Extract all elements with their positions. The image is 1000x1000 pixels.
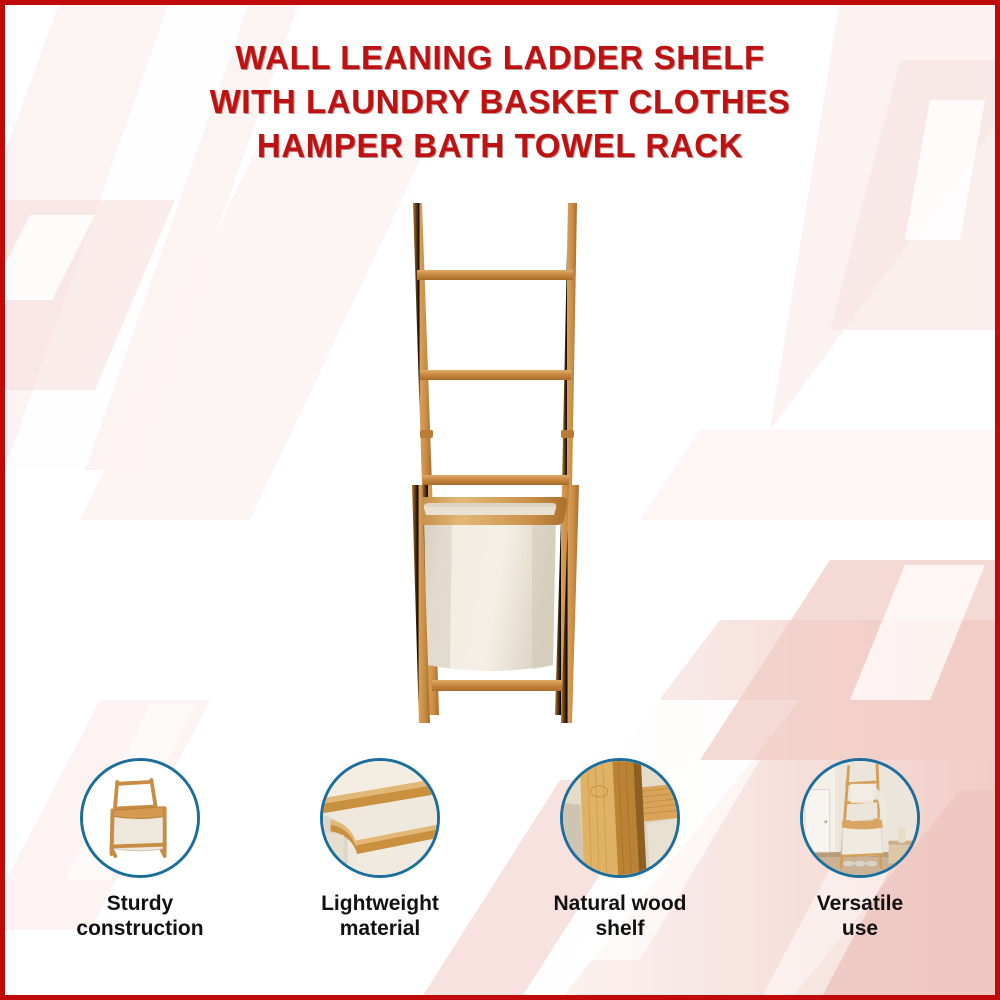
feature-sturdy-construction: Sturdy construction	[20, 758, 260, 973]
feature-thumbnail-versatile-use	[800, 758, 920, 878]
ladder-rung-3	[423, 475, 569, 485]
poster-title: WALL LEANING LADDER SHELF WITH LAUNDRY B…	[0, 36, 1000, 168]
title-line-1: WALL LEANING LADDER SHELF	[0, 36, 1000, 80]
title-line-2: WITH LAUNDRY BASKET CLOTHES	[0, 80, 1000, 124]
feature-thumbnail-natural-wood-shelf	[560, 758, 680, 878]
laundry-hamper-basket	[415, 497, 567, 671]
hero-product-image	[360, 185, 640, 745]
room-scene-photo-icon	[803, 761, 917, 875]
ladder-rung-2	[420, 370, 571, 380]
feature-caption-natural-wood-shelf: Natural wood shelf	[553, 892, 686, 942]
ladder-bottom-brace	[432, 680, 564, 691]
feature-caption-versatile-use: Versatile use	[817, 892, 903, 942]
feature-highlights-row: Sturdy construction Lightweight material	[20, 758, 980, 973]
full-unit-photo-icon	[83, 761, 197, 875]
bamboo-grain-closeup-icon	[563, 761, 677, 875]
ladder-hamper-illustration	[360, 185, 640, 745]
title-line-3: HAMPER BATH TOWEL RACK	[0, 124, 1000, 168]
feature-versatile-use: Versatile use	[740, 758, 980, 973]
feature-natural-wood-shelf: Natural wood shelf	[500, 758, 740, 973]
basket-rim-closeup-icon	[323, 761, 437, 875]
product-poster: WALL LEANING LADDER SHELF WITH LAUNDRY B…	[0, 0, 1000, 1000]
feature-caption-lightweight-material: Lightweight material	[321, 892, 439, 942]
feature-lightweight-material: Lightweight material	[260, 758, 500, 973]
feature-thumbnail-sturdy-construction	[80, 758, 200, 878]
feature-thumbnail-lightweight-material	[320, 758, 440, 878]
ladder-rung-1	[417, 270, 573, 280]
feature-caption-sturdy-construction: Sturdy construction	[76, 892, 203, 942]
